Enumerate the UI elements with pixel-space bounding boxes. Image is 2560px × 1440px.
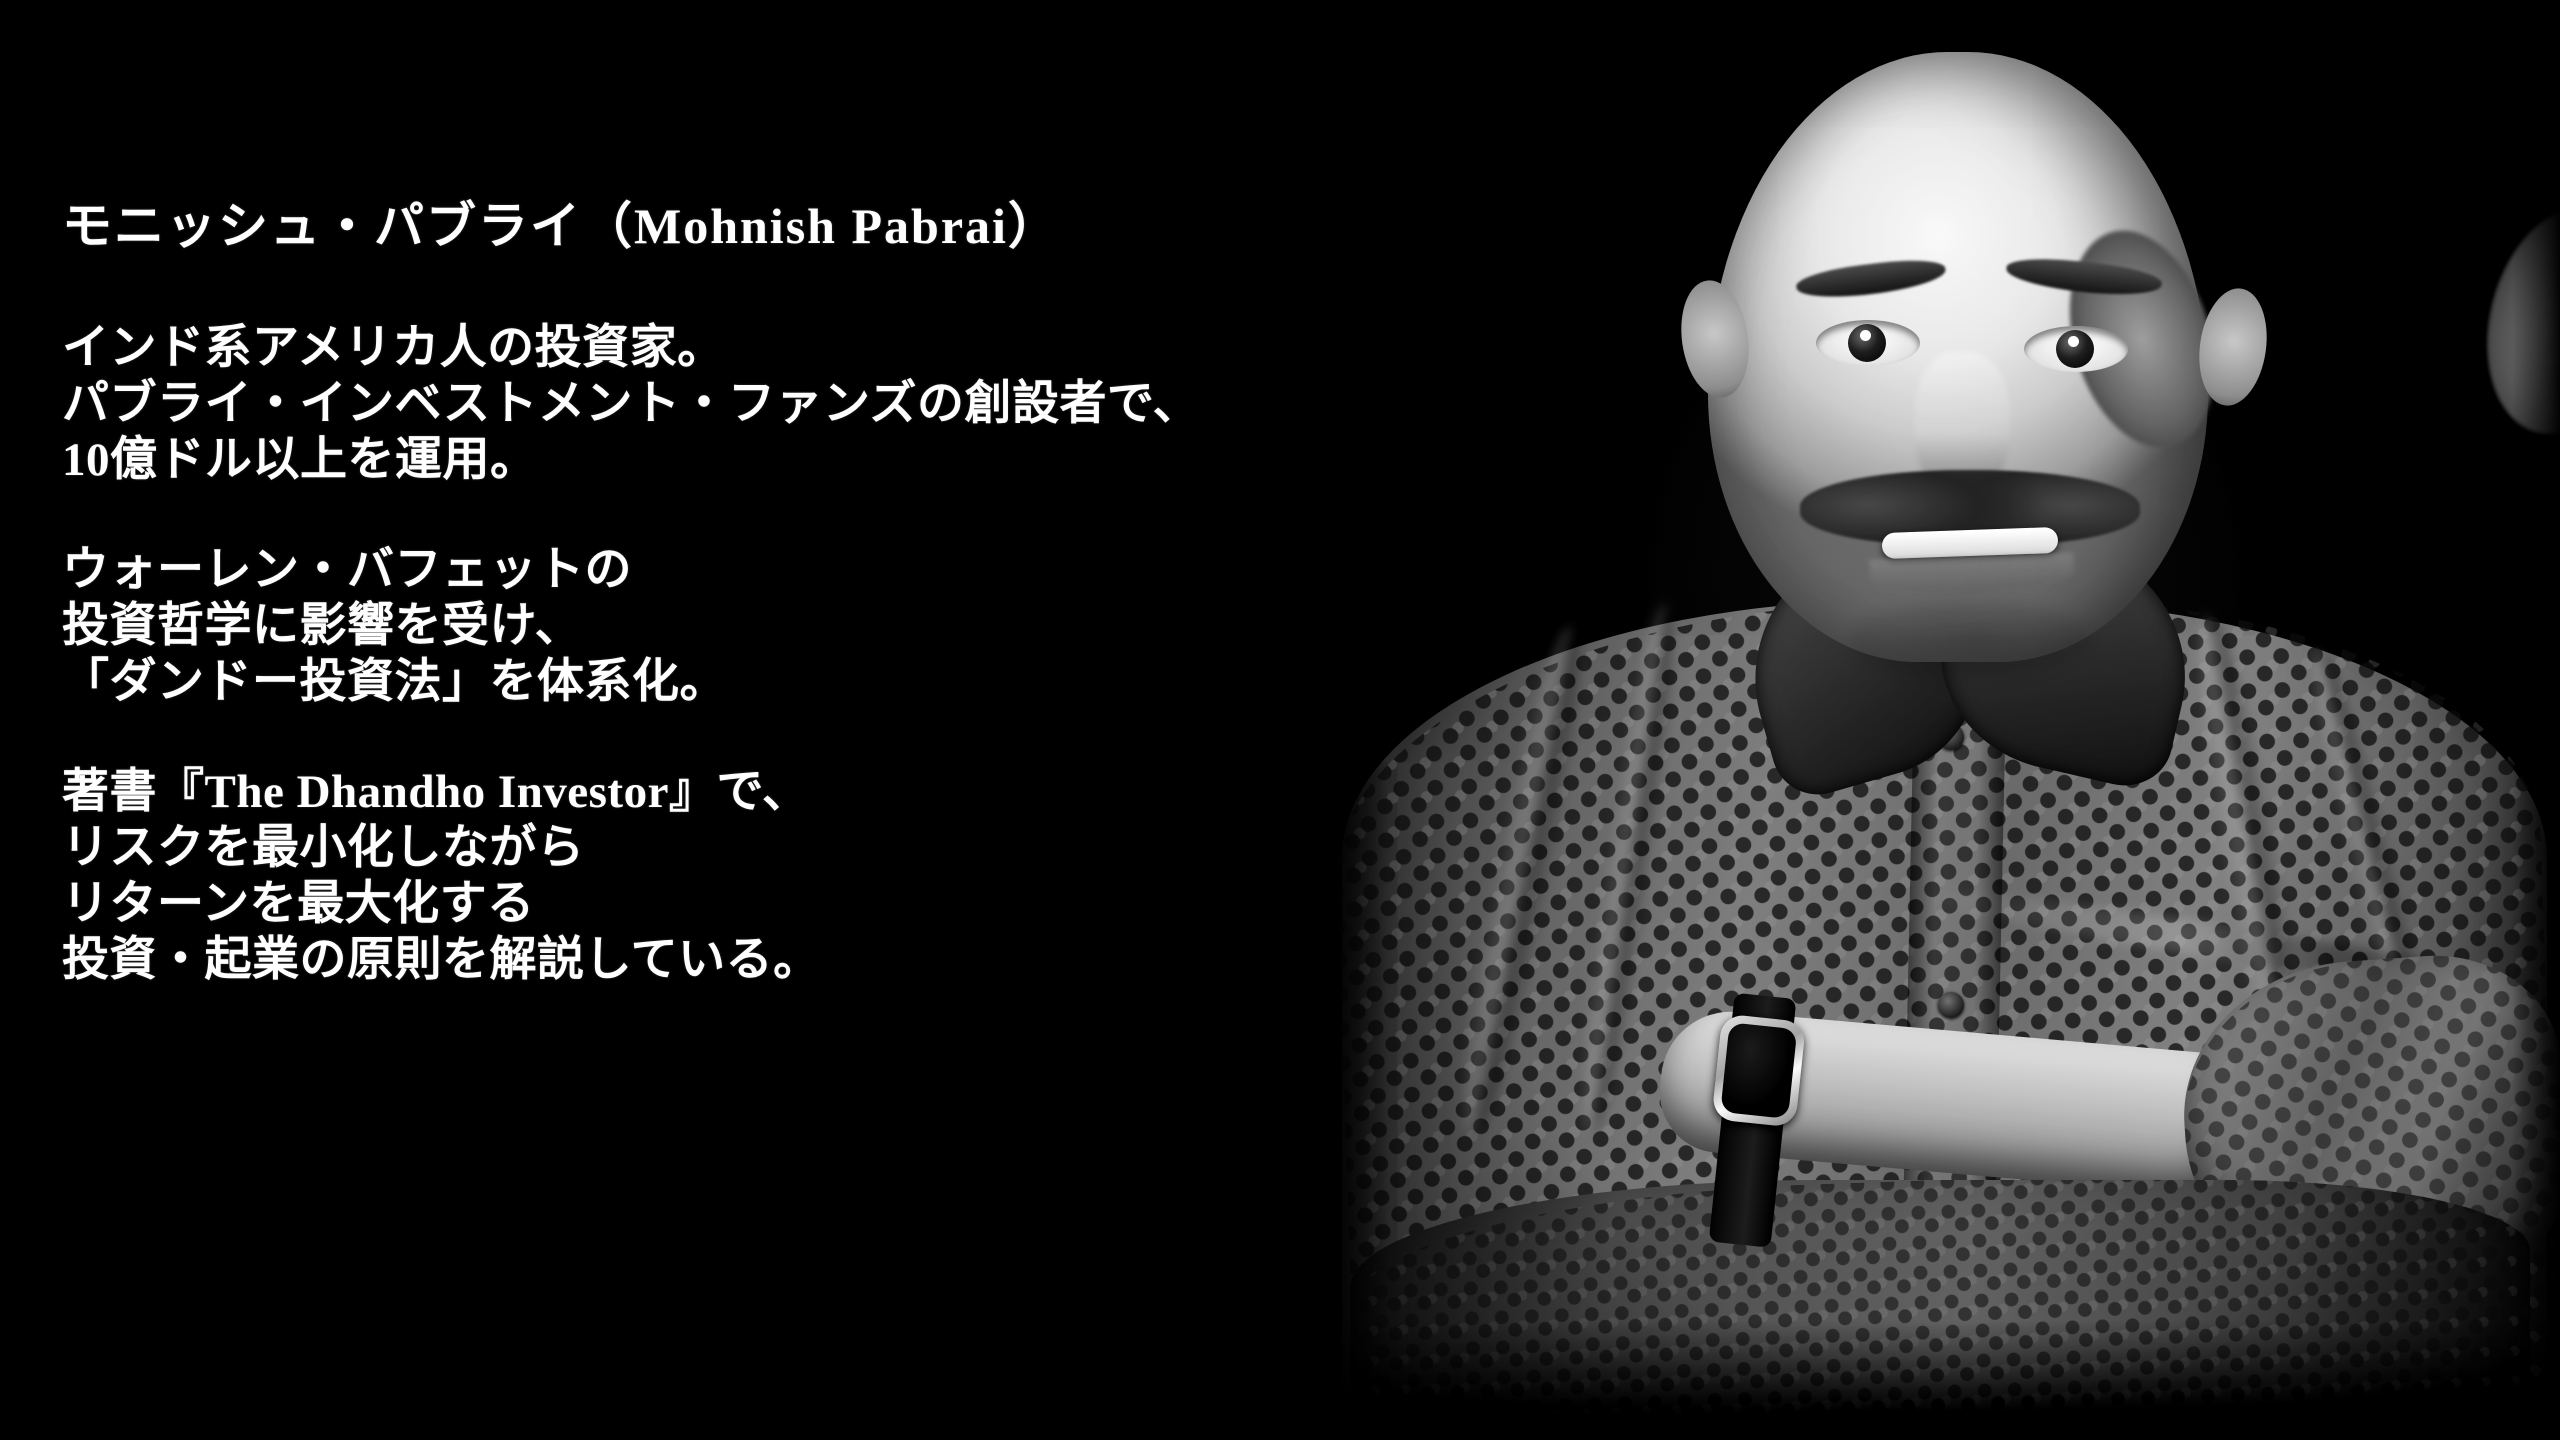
text-line: 著書『The Dhandho Investor』で、	[62, 764, 1382, 820]
paragraph-philosophy: ウォーレン・バフェットの 投資哲学に影響を受け、 「ダンドー投資法」を体系化。	[62, 542, 1382, 710]
eye-glint-left	[1860, 330, 1871, 341]
text-line: 10億ドル以上を運用。	[62, 432, 1382, 488]
portrait-image-content	[1330, 0, 2560, 1440]
eye-right	[2024, 326, 2128, 372]
watch-case	[1711, 1014, 1806, 1128]
page-title: モニッシュ・パブライ（Mohnish Pabrai）	[62, 198, 1382, 254]
text-line: リターンを最大化する	[62, 876, 1382, 932]
text-line: パブライ・インベストメント・ファンズの創設者で、	[62, 376, 1382, 432]
watch-face	[1720, 1022, 1797, 1119]
text-column: モニッシュ・パブライ（Mohnish Pabrai） インド系アメリカ人の投資家…	[62, 198, 1382, 988]
shirt-button	[1938, 992, 1964, 1018]
paragraph-book: 著書『The Dhandho Investor』で、 リスクを最小化しながら リ…	[62, 764, 1382, 988]
portrait-photo	[1330, 0, 2560, 1440]
text-line: リスクを最小化しながら	[62, 820, 1382, 876]
chin-shadow	[1850, 600, 2090, 680]
eye-left	[1816, 320, 1920, 366]
text-line: ウォーレン・バフェットの	[62, 542, 1382, 598]
paragraph-bio: インド系アメリカ人の投資家。 パブライ・インベストメント・ファンズの創設者で、 …	[62, 320, 1382, 488]
slide-root: モニッシュ・パブライ（Mohnish Pabrai） インド系アメリカ人の投資家…	[0, 0, 2560, 1440]
text-line: 「ダンドー投資法」を体系化。	[62, 654, 1382, 710]
text-line: インド系アメリカ人の投資家。	[62, 320, 1382, 376]
photo-base-shadow	[1330, 1320, 2560, 1440]
text-line: 投資・起業の原則を解説している。	[62, 932, 1382, 988]
eye-glint-right	[2068, 336, 2079, 347]
text-line: 投資哲学に影響を受け、	[62, 598, 1382, 654]
